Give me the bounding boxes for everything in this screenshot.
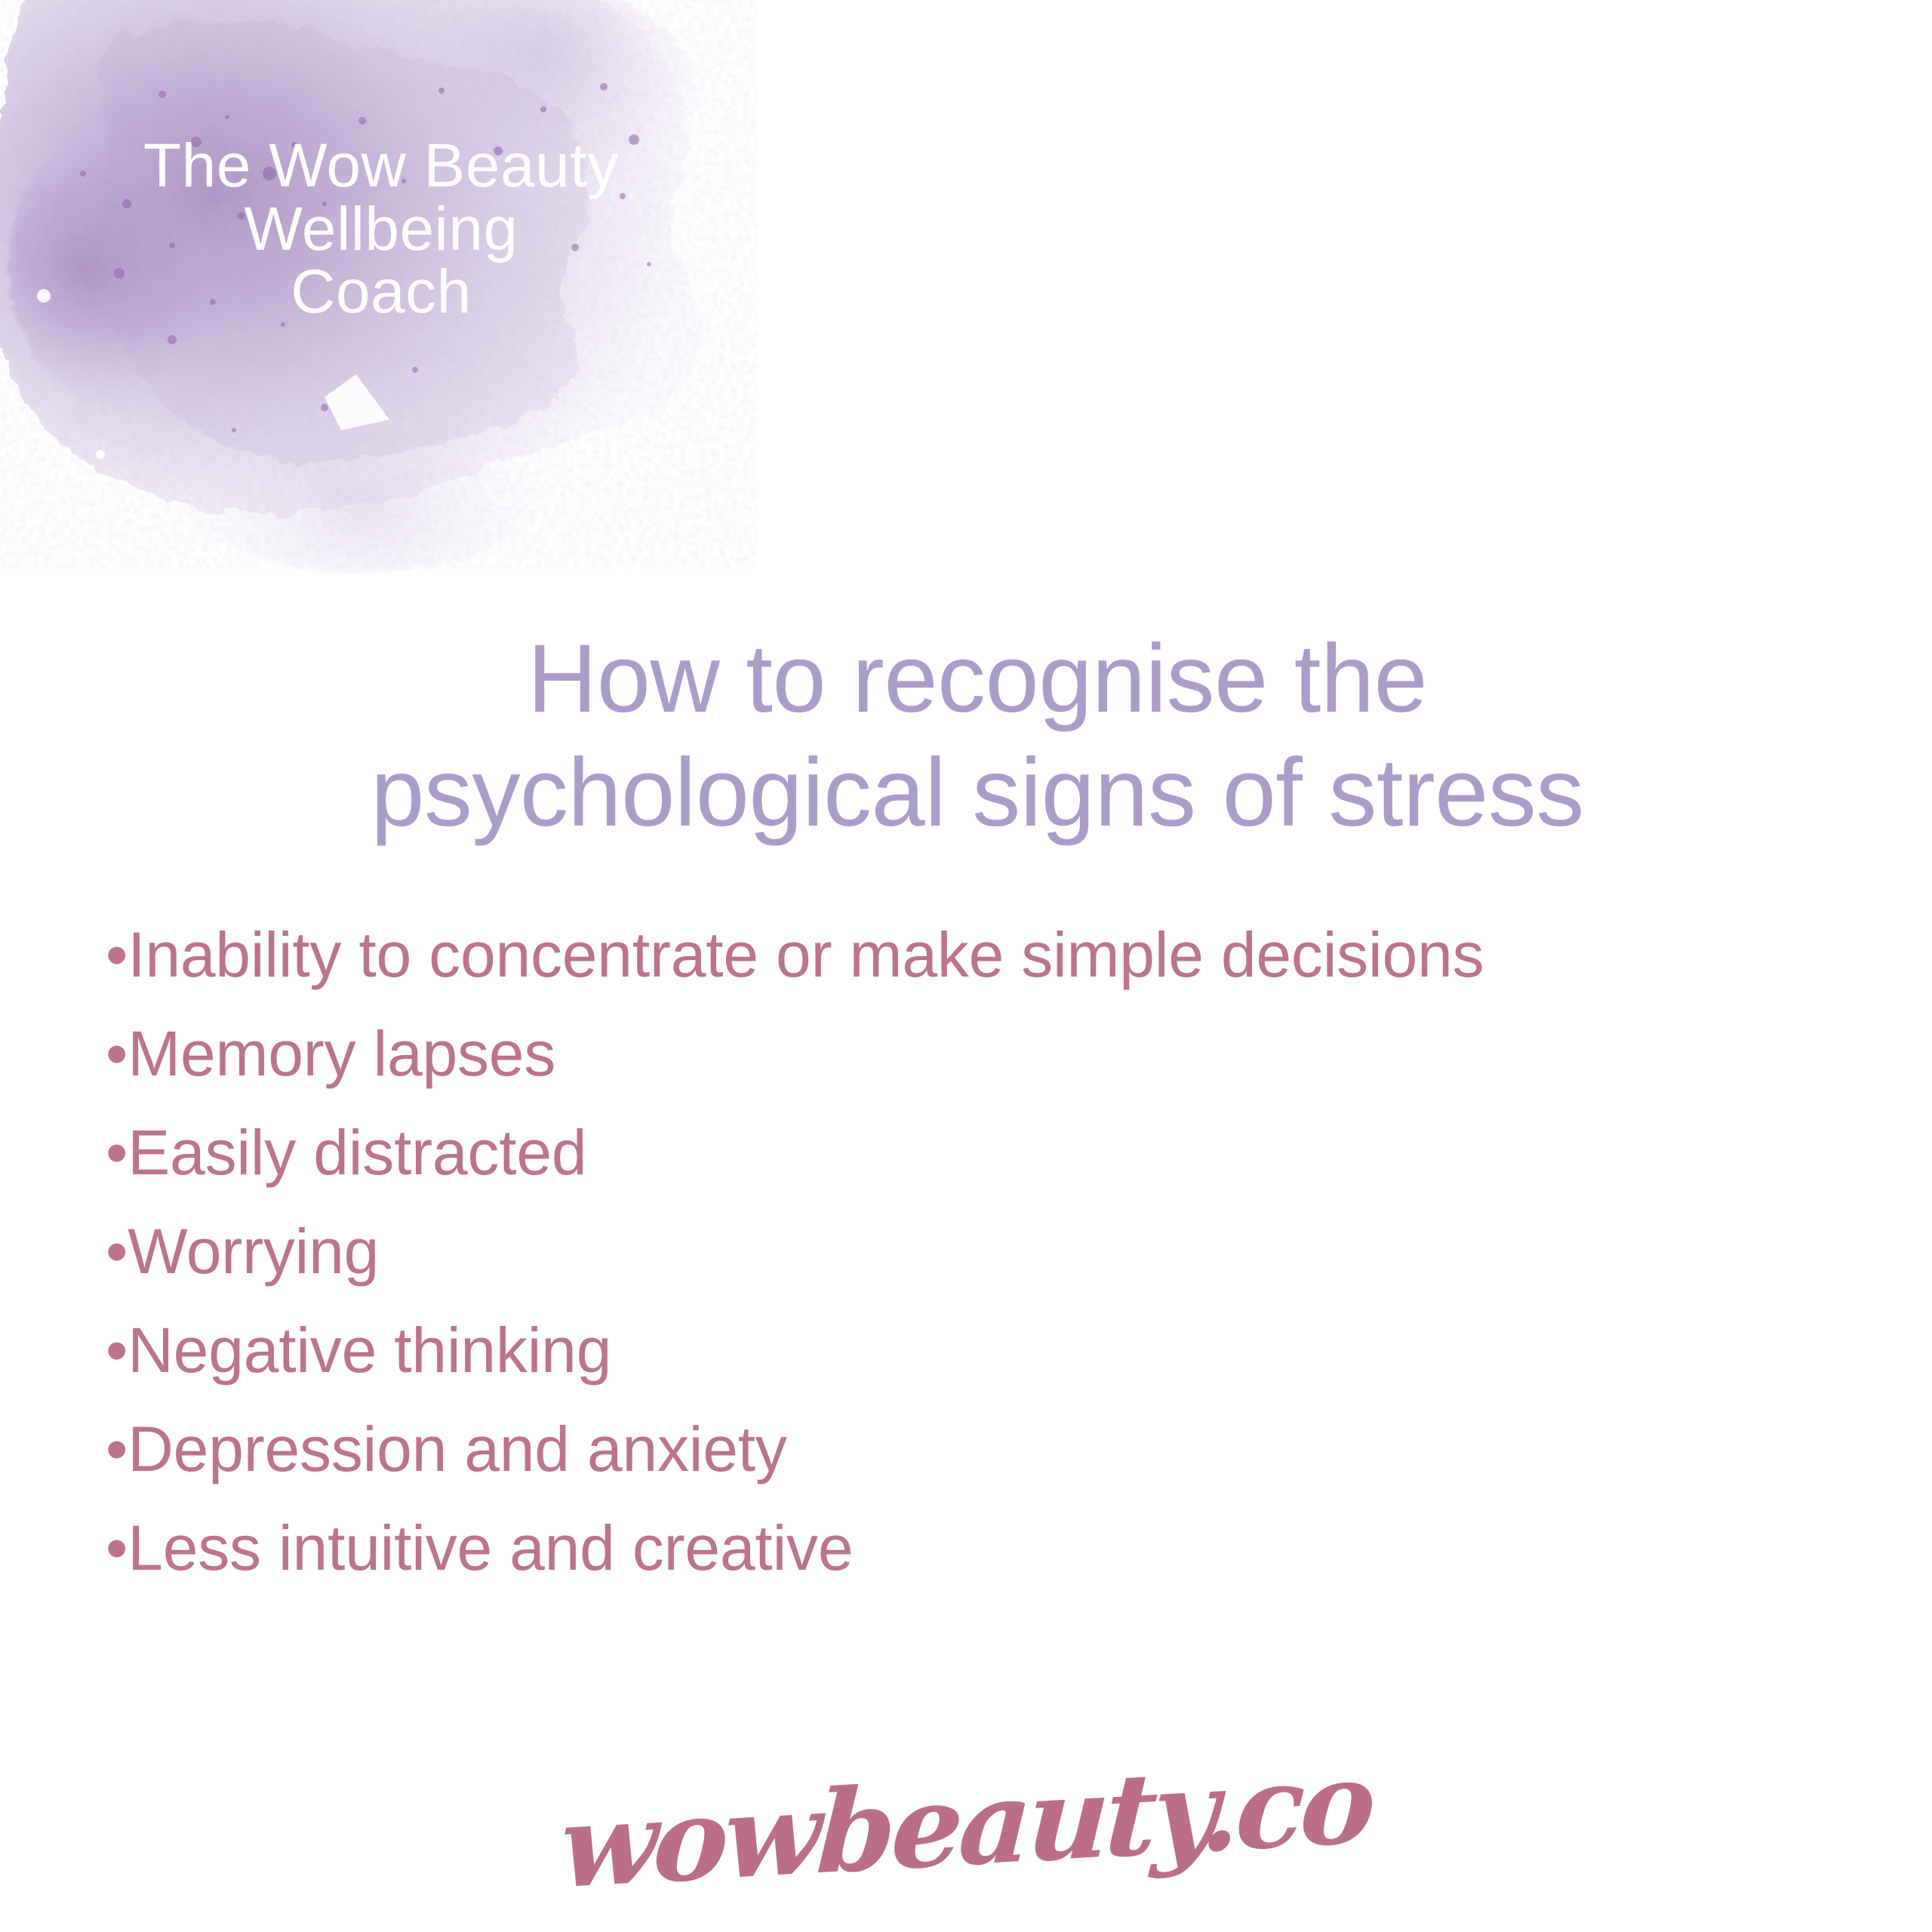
page-title-line-2: psychological signs of stress bbox=[136, 736, 1819, 850]
brand-logo: The Wow Beauty Wellbeing Coach bbox=[83, 134, 679, 324]
list-item: •Worrying bbox=[106, 1202, 1841, 1301]
bullet-icon: • bbox=[106, 1315, 128, 1386]
bullet-icon: • bbox=[106, 1414, 128, 1484]
bullet-icon: • bbox=[106, 1018, 128, 1089]
brand-logo-line-1: The Wow Beauty bbox=[83, 134, 679, 198]
website-signature: wowbeauty.co bbox=[0, 1758, 1932, 1891]
list-item: •Depression and anxiety bbox=[106, 1400, 1841, 1499]
list-item-label: Worrying bbox=[128, 1216, 379, 1287]
bullet-icon: • bbox=[106, 1216, 128, 1287]
list-item-label: Negative thinking bbox=[128, 1315, 611, 1386]
list-item: •Negative thinking bbox=[106, 1301, 1841, 1400]
bullet-icon: • bbox=[106, 919, 128, 990]
list-item: •Easily distracted bbox=[106, 1103, 1841, 1202]
brand-logo-line-2: Wellbeing bbox=[83, 198, 679, 261]
list-item-label: Memory lapses bbox=[128, 1018, 555, 1089]
page-title-line-1: How to recognise the bbox=[136, 622, 1819, 736]
list-item: •Less intuitive and creative bbox=[106, 1499, 1841, 1598]
page-title: How to recognise the psychological signs… bbox=[136, 622, 1819, 850]
list-item: •Memory lapses bbox=[106, 1004, 1841, 1103]
list-item-label: Easily distracted bbox=[128, 1117, 586, 1188]
list-item-label: Inability to concentrate or make simple … bbox=[128, 919, 1484, 990]
list-item: •Inability to concentrate or make simple… bbox=[106, 906, 1841, 1004]
bullet-icon: • bbox=[106, 1117, 128, 1188]
poster-canvas: The Wow Beauty Wellbeing Coach How to re… bbox=[0, 0, 1932, 1932]
brand-logo-line-3: Coach bbox=[83, 260, 679, 324]
bullet-icon: • bbox=[106, 1512, 128, 1583]
list-item-label: Less intuitive and creative bbox=[128, 1512, 853, 1583]
list-item-label: Depression and anxiety bbox=[128, 1414, 786, 1484]
symptom-list: •Inability to concentrate or make simple… bbox=[106, 906, 1841, 1598]
website-signature-text: wowbeauty.co bbox=[558, 1736, 1375, 1915]
